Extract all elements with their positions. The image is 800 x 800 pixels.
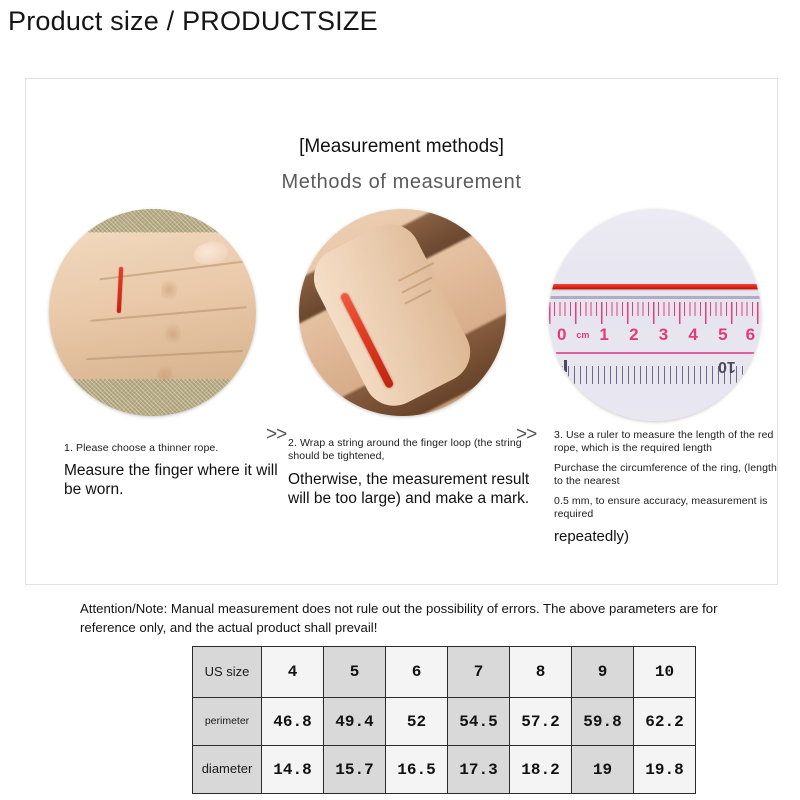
- measurement-method-panel: [Measurement methods] Methods of measure…: [25, 78, 778, 585]
- finger-wrapped-with-string-photo: [299, 209, 506, 416]
- row-label-perimeter: perimeter: [193, 698, 262, 746]
- cell-diameter-2: 16.5: [386, 746, 448, 794]
- ruler-measuring-thread-photo: 0 cm 1 2 3 4 5 6 10: [549, 209, 761, 421]
- cell-diameter-1: 15.7: [324, 746, 386, 794]
- table-row-perimeter: perimeter 46.8 49.4 52 54.5 57.2 59.8 62…: [193, 698, 696, 746]
- cell-perimeter-6: 62.2: [634, 698, 696, 746]
- step-3-caption: 3. Use a ruler to measure the length of …: [554, 429, 782, 546]
- step-1-small-text: 1. Please choose a thinner rope.: [64, 442, 294, 455]
- red-thread-on-ruler: [549, 284, 761, 289]
- step-3-line-3: 0.5 mm, to ensure accuracy, measurement …: [554, 495, 782, 522]
- cell-us-size-2: 6: [386, 647, 448, 698]
- ruler-number-1: 1: [599, 325, 608, 345]
- step-3-line-4: repeatedly): [554, 528, 782, 546]
- hand-photo-texture-bottom: [49, 379, 256, 416]
- step-3-line-2: Purchase the circumference of the ring, …: [554, 462, 782, 489]
- method-photo-row: >> >>: [26, 209, 779, 424]
- cell-us-size-6: 10: [634, 647, 696, 698]
- row-label-us-size: US size: [193, 647, 262, 698]
- cell-perimeter-0: 46.8: [262, 698, 324, 746]
- ruler-center-line: [549, 352, 761, 354]
- cell-diameter-6: 19.8: [634, 746, 696, 794]
- table-row-diameter: diameter 14.8 15.7 16.5 17.3 18.2 19 19.…: [193, 746, 696, 794]
- page-title: Product size / PRODUCTSIZE: [8, 6, 378, 37]
- ruler-number-2: 2: [629, 325, 638, 345]
- cell-diameter-3: 17.3: [448, 746, 510, 794]
- ruler-number-3: 3: [659, 325, 668, 345]
- cell-us-size-5: 9: [572, 647, 634, 698]
- knuckle-1: [161, 277, 177, 303]
- cell-us-size-1: 5: [324, 647, 386, 698]
- cell-diameter-4: 18.2: [510, 746, 572, 794]
- cell-us-size-4: 8: [510, 647, 572, 698]
- cell-us-size-0: 4: [262, 647, 324, 698]
- cell-us-size-3: 7: [448, 647, 510, 698]
- cell-perimeter-1: 49.4: [324, 698, 386, 746]
- attention-note: Attention/Note: Manual measurement does …: [80, 600, 740, 637]
- step-1-caption: 1. Please choose a thinner rope. Measure…: [64, 442, 294, 500]
- step-2-small-text: 2. Wrap a string around the finger loop …: [288, 437, 538, 464]
- step-3-line-1: 3. Use a ruler to measure the length of …: [554, 429, 782, 456]
- ruler-number-0: 0: [557, 325, 566, 345]
- step-2-caption: 2. Wrap a string around the finger loop …: [288, 437, 538, 509]
- ring-size-table: US size 4 5 6 7 8 9 10 perimeter 46.8 49…: [192, 646, 696, 794]
- cell-perimeter-5: 59.8: [572, 698, 634, 746]
- cell-perimeter-3: 54.5: [448, 698, 510, 746]
- ruler-reverse-number-10: 10: [718, 357, 736, 375]
- knuckle-2: [165, 321, 181, 347]
- measurement-methods-subheading: Methods of measurement: [26, 171, 777, 194]
- knuckle-3: [157, 362, 173, 388]
- step-1-big-text: Measure the finger where it will be worn…: [64, 462, 294, 500]
- measurement-methods-heading: [Measurement methods]: [26, 136, 777, 158]
- ruler-number-scale: 0 cm 1 2 3 4 5 6: [549, 325, 761, 345]
- cell-diameter-0: 14.8: [262, 746, 324, 794]
- hand-with-red-thread-photo: [49, 209, 256, 416]
- table-row-us-size: US size 4 5 6 7 8 9 10: [193, 647, 696, 698]
- cell-perimeter-2: 52: [386, 698, 448, 746]
- ruler-number-4: 4: [688, 325, 697, 345]
- ruler-number-5: 5: [718, 325, 727, 345]
- cell-perimeter-4: 57.2: [510, 698, 572, 746]
- step-2-big-text: Otherwise, the measurement result will b…: [288, 471, 538, 509]
- cell-diameter-5: 19: [572, 746, 634, 794]
- ruler-unit-label: cm: [576, 330, 589, 340]
- row-label-diameter: diameter: [193, 746, 262, 794]
- ruler-major-ticks: [549, 302, 761, 324]
- ruler-number-6: 6: [746, 325, 755, 345]
- ruler-edge-line: [549, 296, 761, 299]
